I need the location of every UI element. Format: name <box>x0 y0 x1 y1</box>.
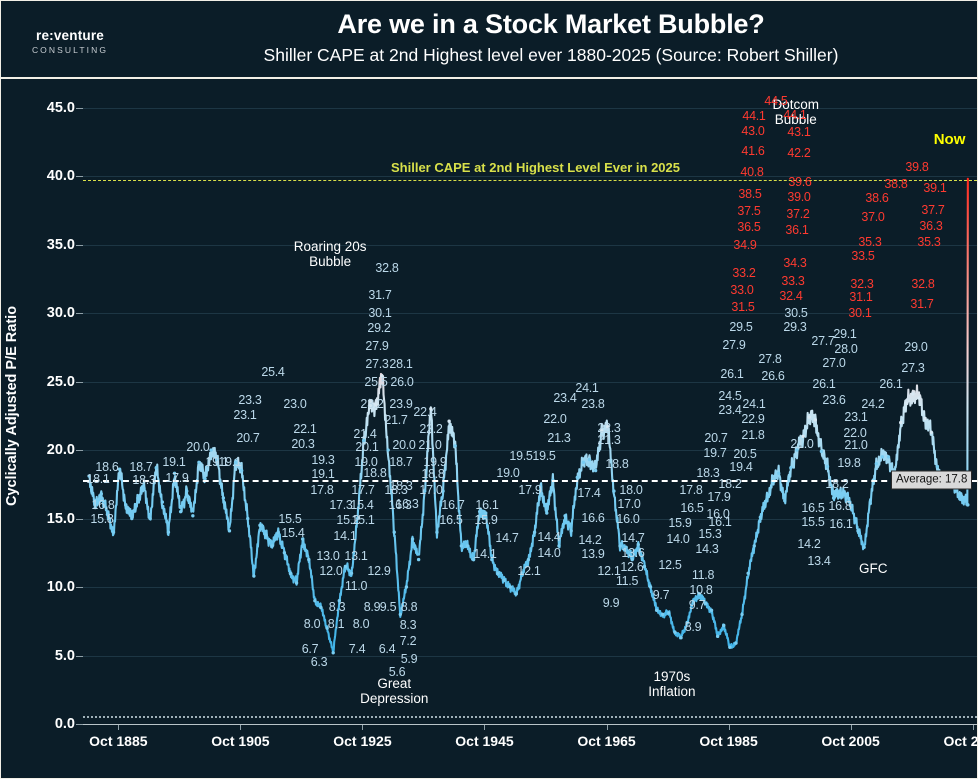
data-point-label: 43.0 <box>741 124 764 138</box>
annotation-1970s-inflation: 1970sInflation <box>648 669 695 699</box>
cape-data-point <box>814 418 817 421</box>
cape-data-point <box>252 574 255 577</box>
data-point-label: 14.1 <box>333 529 356 543</box>
y-axis-tick-mark <box>76 450 83 451</box>
data-point-label: 14.2 <box>797 537 820 551</box>
cape-data-point <box>911 392 914 395</box>
data-point-label: 22.9 <box>741 412 764 426</box>
cape-data-point <box>350 572 353 575</box>
data-point-label: 17.4 <box>577 486 600 500</box>
cape-data-point <box>209 448 212 451</box>
data-point-label: 8.0 <box>304 617 320 631</box>
cape-data-point <box>344 565 347 568</box>
cape-data-point <box>954 489 957 492</box>
cape-data-point <box>191 514 194 517</box>
logo-wordmark: re:venture <box>15 29 125 43</box>
data-point-label: 17.0 <box>617 497 640 511</box>
data-point-label: 8.3 <box>329 600 345 614</box>
data-point-label: 12.1 <box>517 564 540 578</box>
data-point-label: 12.5 <box>658 558 681 572</box>
data-point-label: 14.0 <box>537 546 560 560</box>
data-point-label: 8.9 <box>364 600 380 614</box>
data-point-label: 23.0 <box>283 397 306 411</box>
cape-data-point <box>258 524 261 527</box>
cape-data-point <box>740 613 743 616</box>
data-point-label: 17.0 <box>419 483 442 497</box>
data-point-label: 31.7 <box>368 288 391 302</box>
data-point-label: 19.4 <box>729 460 752 474</box>
data-point-label: 14.7 <box>621 531 644 545</box>
data-point-label: 18.0 <box>619 483 642 497</box>
data-point-label: 9.9 <box>603 596 619 610</box>
data-point-label: 26.6 <box>761 369 784 383</box>
data-point-label: 21.0 <box>418 438 441 452</box>
y-axis-tick-mark <box>76 519 83 520</box>
cape-data-point <box>319 606 322 609</box>
data-point-label: 17.8 <box>310 483 333 497</box>
cape-data-point <box>277 531 280 534</box>
data-point-label: 9.5 <box>380 600 396 614</box>
cape-data-point <box>746 572 749 575</box>
data-point-label: 27.8 <box>758 352 781 366</box>
data-point-label: 8.0 <box>353 617 369 631</box>
data-point-label: 6.7 <box>302 642 318 656</box>
data-point-label: 17.8 <box>679 483 702 497</box>
data-point-label: 18.2 <box>718 477 741 491</box>
data-point-label: 15.9 <box>668 516 691 530</box>
data-point-label: 29.0 <box>904 340 927 354</box>
y-axis-tick-mark <box>76 587 83 588</box>
x-axis-tick-label: Oct 1945 <box>455 733 513 749</box>
data-point-label: 5.6 <box>389 665 405 679</box>
y-axis-tick-label: 35.0 <box>15 237 75 253</box>
y-axis-tick-label: 40.0 <box>15 168 75 184</box>
data-point-label: 39.1 <box>923 181 946 195</box>
cape-data-point <box>136 496 139 499</box>
cape-line <box>89 179 968 653</box>
data-point-label: 5.9 <box>401 652 417 666</box>
data-point-label: 43.1 <box>787 125 810 139</box>
data-point-label: 32.8 <box>375 261 398 275</box>
cape-data-point <box>789 466 792 469</box>
data-point-label: 14.4 <box>537 530 560 544</box>
cape-data-point <box>124 503 127 506</box>
annotation-line: Roaring 20s <box>294 239 367 254</box>
data-point-label: 29.5 <box>729 320 752 334</box>
x-axis-tick-label: Oct 1965 <box>577 733 635 749</box>
data-point-label: 39.6 <box>788 175 811 189</box>
data-point-label: 7.2 <box>400 634 416 648</box>
cape-data-point <box>777 472 780 475</box>
chart-screenshot: re:venture CONSULTING Are we in a Stock … <box>0 0 978 779</box>
y-axis-tick-label: 15.0 <box>15 511 75 527</box>
data-point-label: 36.3 <box>919 219 942 233</box>
data-point-label: 17.9 <box>707 490 730 504</box>
cape-data-point <box>411 537 414 540</box>
data-point-label: 17.9 <box>518 483 541 497</box>
y-axis-tick-label: 25.0 <box>15 374 75 390</box>
data-point-label: 24.5 <box>718 389 741 403</box>
data-point-label: 18.7 <box>129 460 152 474</box>
cape-data-point <box>185 489 188 492</box>
data-point-label: 12.1 <box>597 564 620 578</box>
data-point-label: 18.8 <box>605 457 628 471</box>
cape-data-point <box>594 469 597 472</box>
data-point-label: 27.0 <box>822 356 845 370</box>
data-point-label: 36.5 <box>737 220 760 234</box>
data-point-label: 23.9 <box>389 397 412 411</box>
y-axis-tick-label: 10.0 <box>15 579 75 595</box>
data-point-label: 18.8 <box>421 467 444 481</box>
y-axis-tick-label: 0.0 <box>15 716 75 732</box>
cape-data-point <box>313 599 316 602</box>
data-point-label: 8.8 <box>401 600 417 614</box>
data-point-label: 26.1 <box>720 367 743 381</box>
data-point-label: 20.0 <box>392 438 415 452</box>
data-point-label: 18.2 <box>825 477 848 491</box>
data-point-label: 23.6 <box>822 393 845 407</box>
data-point-label: 27.3 <box>365 357 388 371</box>
data-point-label: 14.0 <box>666 532 689 546</box>
data-point-label: 14.7 <box>495 531 518 545</box>
data-point-label: 16.1 <box>475 498 498 512</box>
y-axis-tick-mark <box>76 382 83 383</box>
data-point-label: 30.1 <box>368 306 391 320</box>
data-point-label: 11.0 <box>345 579 367 593</box>
data-point-label: 29.3 <box>783 320 806 334</box>
data-point-label: 20.7 <box>704 431 727 445</box>
x-axis-tick-label: Oct 2005 <box>821 733 879 749</box>
data-point-label: 24.2 <box>861 397 884 411</box>
data-point-label: 6.4 <box>379 642 395 656</box>
data-point-label: 38.6 <box>865 191 888 205</box>
cape-data-point <box>405 585 408 588</box>
data-point-label: 20.0 <box>186 440 209 454</box>
cape-data-point <box>917 396 920 399</box>
cape-data-point <box>869 502 872 505</box>
cape-data-point <box>197 461 200 464</box>
cape-data-point <box>923 417 926 420</box>
data-point-label: 30.5 <box>784 306 807 320</box>
data-point-label: 15.4 <box>281 526 304 540</box>
data-point-label: 19.7 <box>703 446 726 460</box>
annotation-gfc: GFC <box>859 561 888 576</box>
data-point-label: 23.4 <box>553 391 576 405</box>
data-point-label: 16.5 <box>439 513 462 527</box>
data-point-label: 37.7 <box>921 203 944 217</box>
logo-tagline: CONSULTING <box>15 46 125 55</box>
data-point-label: 27.9 <box>365 339 388 353</box>
cape-data-point <box>930 431 933 434</box>
data-point-label: 36.1 <box>785 223 808 237</box>
data-point-label: 19.1 <box>311 467 334 481</box>
data-point-label: 18.7 <box>389 455 412 469</box>
data-point-label: 12.9 <box>367 564 390 578</box>
cape-data-point <box>417 558 420 561</box>
cape-data-point <box>508 585 511 588</box>
cape-data-point <box>167 531 170 534</box>
data-point-label: 44.1 <box>783 108 806 122</box>
data-point-label: 15.5 <box>278 512 301 526</box>
data-point-label: 21.4 <box>353 427 376 441</box>
cape-data-point <box>466 544 469 547</box>
data-point-label: 16.7 <box>441 498 464 512</box>
data-point-label: 32.4 <box>779 289 802 303</box>
data-point-label: 34.9 <box>733 238 756 252</box>
data-point-label: 6.3 <box>311 655 327 669</box>
cape-data-point <box>454 444 457 447</box>
cape-data-point <box>753 544 756 547</box>
data-point-label: 39.0 <box>787 190 810 204</box>
y-axis-tick-mark <box>76 724 83 725</box>
cape-data-point <box>899 421 902 424</box>
data-point-label: 16.5 <box>801 501 824 515</box>
y-axis-tick-mark <box>76 656 83 657</box>
cape-data-point <box>807 415 810 418</box>
data-point-label: 33.5 <box>851 249 874 263</box>
cape-data-point <box>960 495 963 498</box>
cape-data-point <box>728 646 731 649</box>
annotation-line: 1970s <box>648 669 695 684</box>
cape-data-point <box>435 531 438 534</box>
cape-data-point <box>155 466 158 469</box>
cape-data-point <box>649 585 652 588</box>
data-point-label: 37.0 <box>861 210 884 224</box>
data-point-label: 23.3 <box>238 393 261 407</box>
data-point-label: 12.6 <box>620 560 643 574</box>
cape-data-point <box>496 572 499 575</box>
data-point-label: 21.3 <box>547 431 570 445</box>
cape-data-point <box>862 546 865 549</box>
cape-data-point <box>612 489 615 492</box>
cape-markers <box>87 374 969 654</box>
data-point-label: 21.7 <box>384 413 407 427</box>
data-point-label: 21.8 <box>741 428 764 442</box>
data-point-label: 21.0 <box>844 438 867 452</box>
data-point-label: 22.2 <box>419 422 442 436</box>
data-point-label: 40.8 <box>740 165 763 179</box>
data-point-label: 10.8 <box>689 583 712 597</box>
cape-data-point <box>716 635 719 638</box>
data-point-label: 8.3 <box>400 618 416 632</box>
x-axis-tick-label: Oct 2025 <box>943 733 978 749</box>
data-point-label: 22.0 <box>543 412 566 426</box>
data-point-label: 15.8 <box>90 512 113 526</box>
data-point-label: 17.9 <box>165 471 188 485</box>
data-point-label: 17.3 <box>329 498 352 512</box>
y-axis-tick-mark <box>76 108 83 109</box>
data-point-label: 7.4 <box>349 642 365 656</box>
data-point-label: 18.3 <box>132 473 155 487</box>
cap-reference-line <box>83 180 977 181</box>
data-point-label: 23.1 <box>844 410 867 424</box>
reventure-logo: re:venture CONSULTING <box>15 29 125 54</box>
cape-data-point <box>966 503 969 506</box>
cape-data-point <box>710 609 713 612</box>
data-point-label: 34.3 <box>783 256 806 270</box>
data-point-label: 18.1 <box>86 472 109 486</box>
annotation-line: GFC <box>859 561 888 576</box>
cape-data-point <box>563 514 566 517</box>
cape-data-point <box>881 455 884 458</box>
data-point-label: 19.5 <box>509 449 532 463</box>
data-point-label: 38.5 <box>738 187 761 201</box>
data-point-label: 27.7 <box>811 334 834 348</box>
cape-data-point <box>100 492 103 495</box>
data-point-label: 19.1 <box>162 455 185 469</box>
annotation-roaring-20s-bubble: Roaring 20sBubble <box>294 239 367 269</box>
cape-data-point <box>460 544 463 547</box>
annotation-great-depression: GreatDepression <box>360 676 428 706</box>
cape-data-point <box>240 469 243 472</box>
data-point-label: 35.3 <box>858 235 881 249</box>
cape-data-point <box>447 420 450 423</box>
page-subtitle: Shiller CAPE at 2nd Highest level ever 1… <box>131 45 971 66</box>
data-point-label: 14.3 <box>695 542 718 556</box>
cape-data-point <box>289 572 292 575</box>
data-point-label: 11.8 <box>692 568 714 582</box>
data-point-label: 26.1 <box>812 377 835 391</box>
data-point-label: 13.0 <box>316 549 339 563</box>
data-point-label: 16.8 <box>91 498 114 512</box>
data-point-label: 23.2 <box>360 397 383 411</box>
data-point-label: 13.6 <box>621 546 644 560</box>
cape-data-point <box>533 531 536 534</box>
data-point-label: 22.1 <box>293 422 316 436</box>
data-point-label: 37.2 <box>786 207 809 221</box>
data-point-label: 18.3 <box>696 466 719 480</box>
cape-data-point <box>142 487 145 490</box>
cape-data-point <box>844 494 847 497</box>
cape-data-point <box>148 517 151 520</box>
cape-data-point <box>295 581 298 584</box>
cape-data-point <box>307 558 310 561</box>
y-axis-tick-label: 45.0 <box>15 100 75 116</box>
data-point-label: 38.8 <box>884 177 907 191</box>
cape-data-point <box>826 465 829 468</box>
data-point-label: 16.6 <box>581 511 604 525</box>
data-point-label: 39.8 <box>905 160 928 174</box>
cape-data-point <box>179 510 182 513</box>
cape-data-point <box>283 551 286 554</box>
annotation-line: Now <box>934 131 966 148</box>
x-axis-tick-label: Oct 1885 <box>89 733 147 749</box>
data-point-label: 8.1 <box>328 617 344 631</box>
cape-data-point <box>759 515 762 518</box>
data-point-label: 20.1 <box>355 440 378 454</box>
data-point-label: 14.2 <box>578 533 601 547</box>
cape-data-point <box>393 531 396 534</box>
y-axis-tick-mark <box>76 176 83 177</box>
data-point-label: 20.5 <box>733 447 756 461</box>
cape-data-point <box>673 631 676 634</box>
data-point-label: 9.7 <box>689 598 705 612</box>
data-point-label: 33.0 <box>730 283 753 297</box>
data-point-label: 31.5 <box>731 300 754 314</box>
data-point-label: 28.0 <box>834 342 857 356</box>
data-point-label: 29.1 <box>833 327 856 341</box>
y-axis-tick-mark <box>76 245 83 246</box>
cape-data-point <box>856 529 859 532</box>
y-axis-tick-label: 30.0 <box>15 305 75 321</box>
cape-data-point <box>576 476 579 479</box>
data-point-label: 16.5 <box>680 501 703 515</box>
annotation-line: Inflation <box>648 684 695 699</box>
data-point-label: 15.4 <box>350 498 373 512</box>
data-point-label: 15.9 <box>474 513 497 527</box>
cape-data-point <box>734 641 737 644</box>
data-point-label: 16.8 <box>828 499 851 513</box>
cape-data-point <box>332 651 335 654</box>
data-point-label: 23.4 <box>718 403 741 417</box>
data-point-label: 15.3 <box>698 527 721 541</box>
cape-data-point <box>527 558 530 561</box>
data-point-label: 42.2 <box>787 146 810 160</box>
data-point-label: 19.1 <box>218 455 241 469</box>
data-point-label: 18.6 <box>95 460 118 474</box>
data-point-label: 21.0 <box>790 437 813 451</box>
x-axis-tick-label: Oct 1985 <box>699 733 757 749</box>
cape-data-point <box>661 613 664 616</box>
data-point-label: 22.0 <box>843 426 866 440</box>
data-point-label: 30.1 <box>848 306 871 320</box>
data-point-label: 33.2 <box>732 266 755 280</box>
cap-reference-label: Shiller CAPE at 2nd Highest Level Ever i… <box>391 160 680 175</box>
cape-data-point <box>386 448 389 451</box>
data-point-label: 31.1 <box>849 290 872 304</box>
data-point-label: 22.4 <box>413 405 436 419</box>
annotation-line: Depression <box>360 691 428 706</box>
data-point-label: 44.1 <box>742 109 765 123</box>
cape-data-point <box>545 511 548 514</box>
data-point-label: 24.1 <box>575 381 598 395</box>
chart-header: re:venture CONSULTING Are we in a Stock … <box>1 1 978 79</box>
x-axis-tick-label: Oct 1905 <box>211 733 269 749</box>
cape-data-point <box>161 500 164 503</box>
data-point-label: 24.1 <box>742 397 765 411</box>
cape-data-point <box>722 624 725 627</box>
data-point-label: 19.8 <box>837 456 860 470</box>
annotation-line: Bubble <box>294 254 367 269</box>
cape-data-point <box>569 529 572 532</box>
data-point-label: 18.3 <box>389 479 412 493</box>
data-point-label: 28.1 <box>389 357 412 371</box>
data-point-label: 35.3 <box>917 235 940 249</box>
data-point-label: 13.9 <box>581 547 604 561</box>
data-point-label: 25.4 <box>261 365 284 379</box>
data-point-label: 15.5 <box>801 515 824 529</box>
data-point-label: 19.3 <box>311 453 334 467</box>
data-point-label: 16.3 <box>395 497 418 511</box>
data-point-label: 15.1 <box>351 513 374 527</box>
data-point-label: 19.0 <box>354 455 377 469</box>
cape-data-point <box>783 499 786 502</box>
data-point-label: 25.5 <box>364 375 387 389</box>
cape-data-point <box>582 461 585 464</box>
cape-data-point <box>765 499 768 502</box>
data-point-label: 26.0 <box>390 375 413 389</box>
data-point-label: 20.7 <box>236 431 259 445</box>
data-point-label: 19.5 <box>532 449 555 463</box>
cape-data-point <box>875 462 878 465</box>
cape-data-point <box>228 529 231 532</box>
data-point-label: 21.3 <box>597 433 620 447</box>
data-point-label: 19.0 <box>496 466 519 480</box>
cape-data-point <box>588 458 591 461</box>
data-point-label: 20.3 <box>291 437 314 451</box>
data-point-label: 32.3 <box>850 277 873 291</box>
cape-data-point <box>502 578 505 581</box>
